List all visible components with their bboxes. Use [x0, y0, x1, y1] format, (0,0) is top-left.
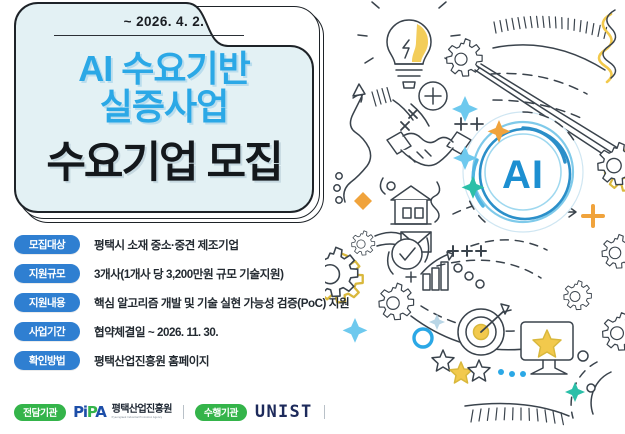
- monitor-star-icon: [521, 322, 573, 374]
- detail-value: 핵심 알고리즘 개발 및 기술 실현 가능성 검증(PoC) 지원: [94, 295, 349, 311]
- pipa-name-ko: 평택산업진흥원: [112, 405, 172, 415]
- detail-row: 지원내용 핵심 알고리즘 개발 및 기술 실현 가능성 검증(PoC) 지원: [14, 288, 434, 317]
- detail-row: 사업기간 협약체결일 ~ 2026. 11. 30.: [14, 317, 434, 346]
- ai-badge: [463, 112, 583, 232]
- detail-value: 3개사(1개사 당 3,200만원 규모 기술지원): [94, 266, 283, 282]
- dots-arrow: [503, 206, 576, 218]
- detail-label-badge: 지원규모: [14, 264, 80, 283]
- title-line-3: 수요기업 모집: [14, 128, 314, 190]
- detail-label-badge: 사업기간: [14, 322, 80, 341]
- pipa-logo: PiPA 평택산업진흥원 Pyeongtaek Industrial Promo…: [73, 405, 172, 420]
- pipa-wordmark: PiPA: [73, 405, 106, 420]
- plus-icon: [583, 206, 603, 226]
- star-icon: [432, 350, 490, 383]
- dot-row: [498, 369, 526, 377]
- footer-divider: [324, 405, 325, 419]
- hatch-lines: [471, 408, 563, 425]
- details-list: 모집대상 평택시 소재 중소·중견 제조기업 지원규모 3개사(1개사 당 3,…: [14, 230, 434, 375]
- pipa-name-en: Pyeongtaek Industrial Promotion Agency: [112, 417, 172, 420]
- gear-icon: [598, 143, 625, 185]
- application-deadline: ~ 2026. 4. 2.: [14, 13, 314, 31]
- arc-lines: [491, 16, 607, 118]
- hatch-lines: [372, 88, 391, 106]
- gear-icon: [602, 234, 625, 268]
- x-marks: [401, 110, 483, 130]
- header-divider: [54, 35, 244, 36]
- gear-icon: [564, 281, 592, 310]
- detail-row: 지원규모 3개사(1개사 당 3,200만원 규모 기술지원): [14, 259, 434, 288]
- header-card: ~ 2026. 4. 2. AI 수요기반 실증사업 수요기업 모집: [14, 2, 314, 213]
- target-icon: [458, 304, 511, 355]
- badge-executing-agency: 수행기관: [195, 404, 247, 421]
- footer-organizations: 전담기관 PiPA 평택산업진흥원 Pyeongtaek Industrial …: [14, 399, 336, 425]
- deadline-text: ~ 2026. 4. 2.: [124, 14, 205, 29]
- diamond-icon: [354, 192, 372, 210]
- gear-icon: [447, 39, 483, 76]
- plus-icon: [419, 82, 447, 110]
- detail-label-badge: 확인방법: [14, 351, 80, 370]
- title-line-2: 실증사업: [14, 78, 314, 130]
- badge-managing-agency: 전담기관: [14, 404, 66, 421]
- gear-icon: [603, 313, 625, 350]
- detail-row: 모집대상 평택시 소재 중소·중견 제조기업: [14, 230, 434, 259]
- handshake-icon: [387, 132, 471, 166]
- detail-label-badge: 모집대상: [14, 235, 80, 254]
- gear-icon: [605, 149, 625, 191]
- detail-value: 평택시 소재 중소·중견 제조기업: [94, 237, 239, 253]
- detail-row: 확인방법 평택산업진흥원 홈페이지: [14, 346, 434, 375]
- arrow-icon: [334, 84, 371, 203]
- lightbulb-icon: [358, 0, 460, 88]
- detail-label-badge: 지원내용: [14, 293, 80, 312]
- unist-logo: UNIST: [255, 402, 313, 422]
- detail-value: 협약체결일 ~ 2026. 11. 30.: [94, 324, 218, 340]
- house-icon: [391, 186, 431, 224]
- promotional-poster: AI ~ 2026. 4. 2. AI 수요기반 실증사업 수요기업 모집 모집…: [0, 0, 625, 434]
- ai-label: AI: [502, 153, 544, 197]
- footer-divider: [183, 405, 184, 419]
- detail-value: 평택산업진흥원 홈페이지: [94, 353, 209, 369]
